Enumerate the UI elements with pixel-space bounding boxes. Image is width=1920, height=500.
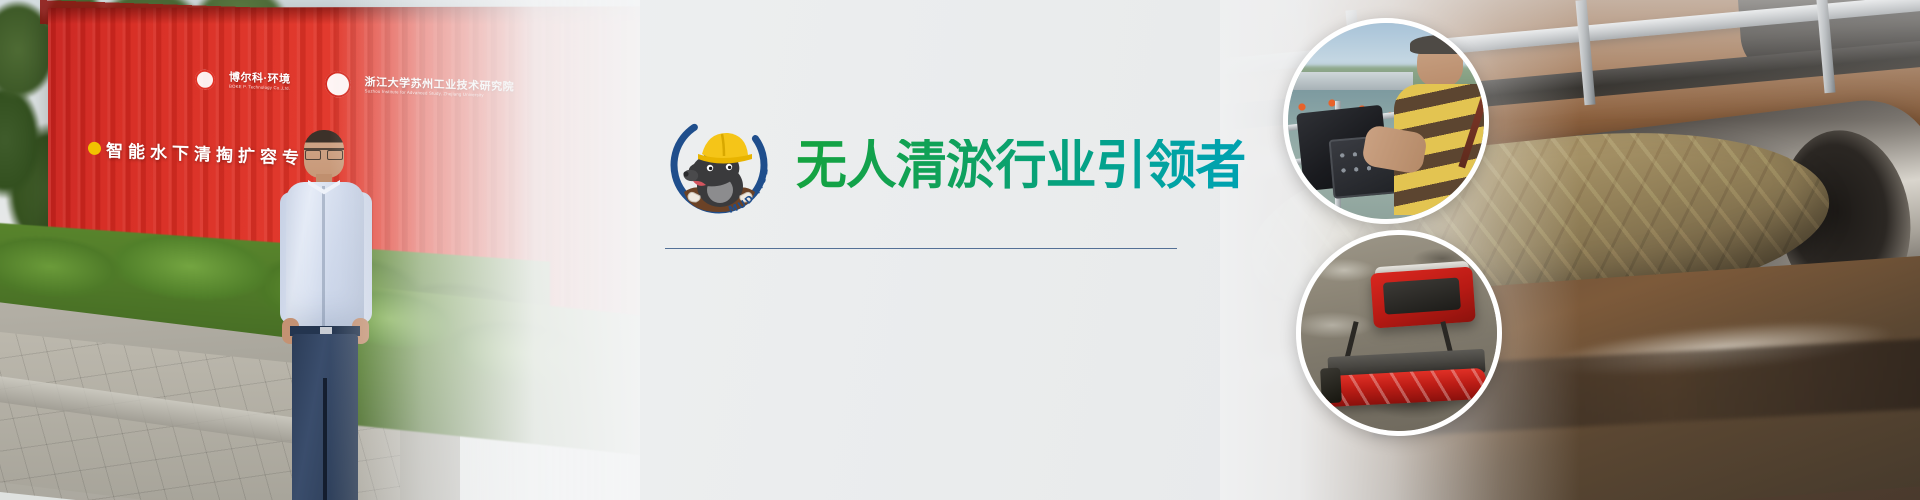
circle-photo-dredging-robot [1296,230,1502,436]
circle-photo-operator [1283,18,1489,224]
light-blue-shirt [286,182,364,332]
left-photo-engineer-container: 博尔科·环境 BOKE P. Technology Co.,Ltd. 浙江大学苏… [0,0,640,500]
robot-red-body [1370,267,1475,329]
headline-slogan: 无人清淤行业引领者 [796,139,1245,192]
dark-trousers [292,334,358,500]
center-content: MUD MOLE 无人清淤行业引领者 [660,0,1190,500]
glasses-icon [304,148,344,158]
slogan-badge-icon [88,142,101,155]
operator-cap [1410,35,1473,54]
auger-end-cap [1320,368,1341,404]
operator-figure [1386,35,1488,223]
engineer-figure [268,130,388,490]
headline-divider [665,248,1177,249]
hero-banner: 博尔科·环境 BOKE P. Technology Co.,Ltd. 浙江大学苏… [0,0,1920,500]
mud-mole-logo: MUD MOLE [660,106,778,224]
